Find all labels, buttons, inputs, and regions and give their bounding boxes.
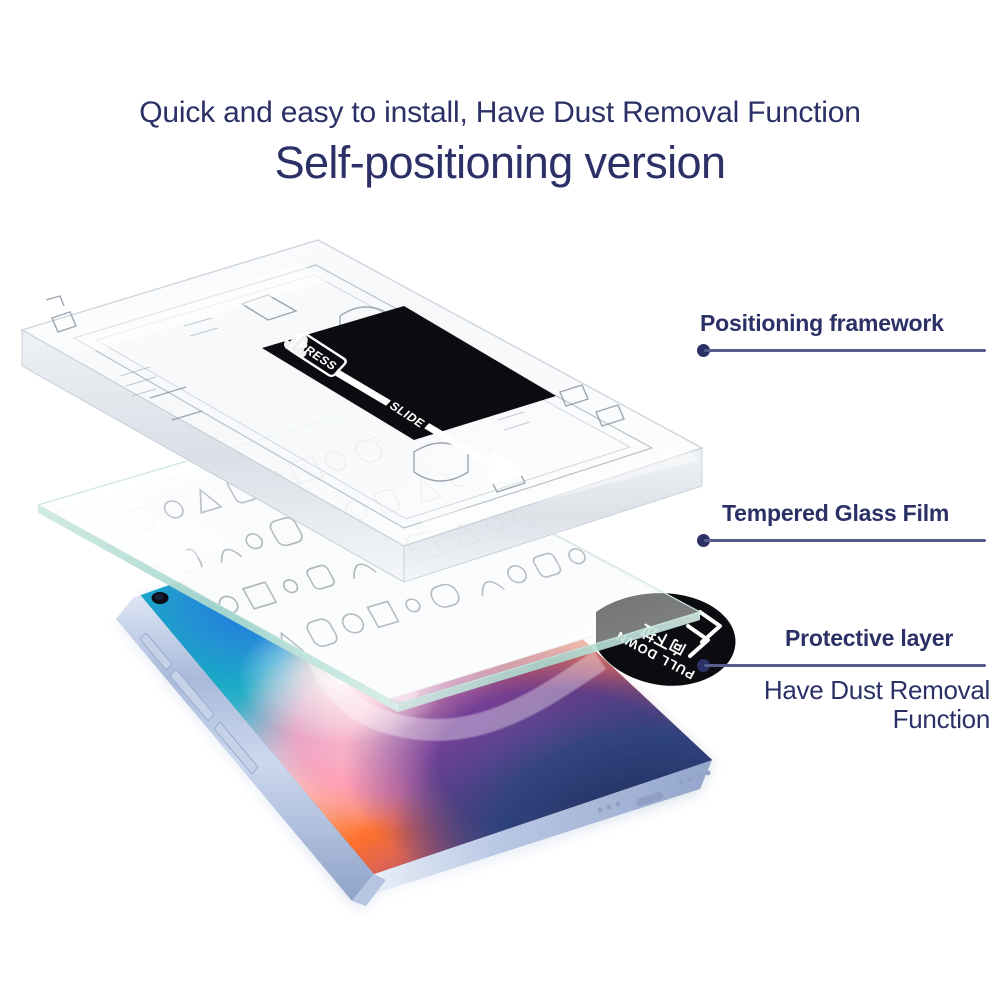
- callout-tempered-glass-film-label: Tempered Glass Film: [722, 500, 949, 527]
- callout-protective-layer-line: [704, 664, 986, 667]
- header-title: Self-positioning version: [0, 137, 1000, 189]
- callout-tempered-glass-film: Tempered Glass Film: [700, 500, 949, 527]
- callout-positioning-framework-line: [704, 349, 986, 352]
- protective-layer-note-line1: Have Dust Removal: [700, 676, 990, 705]
- callout-tempered-glass-film-line: [704, 539, 986, 542]
- callout-positioning-framework-label: Positioning framework: [700, 310, 944, 337]
- header-block: Quick and easy to install, Have Dust Rem…: [0, 96, 1000, 189]
- protective-layer-note-line2: Function: [700, 705, 990, 734]
- protective-layer-note: Have Dust Removal Function: [700, 676, 990, 734]
- callout-protective-layer: Protective layer: [700, 625, 953, 652]
- header-subtitle: Quick and easy to install, Have Dust Rem…: [0, 96, 1000, 129]
- callout-protective-layer-label: Protective layer: [785, 625, 953, 652]
- camera-lens-icon: [155, 594, 164, 600]
- infographic-canvas: PULL DOWN 向下拉: [0, 0, 1000, 1000]
- callout-positioning-framework: Positioning framework: [700, 310, 944, 337]
